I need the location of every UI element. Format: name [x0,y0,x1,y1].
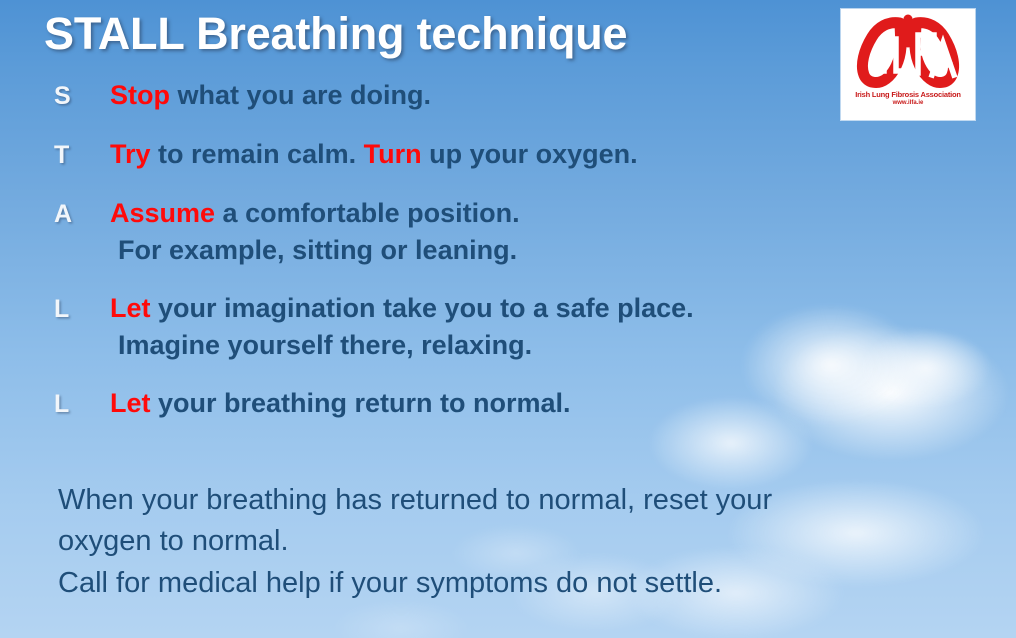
stall-text-t: Try to remain calm. Turn up your oxygen. [110,141,1016,168]
acronym-letter-l1: L [54,295,96,324]
keyword-try: Try [110,139,151,169]
stall-continuation-l1: Imagine yourself there, relaxing. [118,332,1016,359]
stall-row-s: S Stop what you are doing. [0,82,1016,112]
slide-canvas: STALL Breathing technique Irish Lung Fib [0,0,1016,638]
stall-continuation-a: For example, sitting or leaning. [118,237,1016,264]
stall-row-a: A Assume a comfortable position. For exa… [0,200,1016,264]
stall-rest-t: to remain calm. [151,139,364,169]
acronym-letter-t: T [54,141,96,170]
acronym-letter-s: S [54,82,96,111]
footer-line-2: oxygen to normal. [58,521,988,562]
stall-row-l1: L Let your imagination take you to a saf… [0,295,1016,359]
keyword-let-1: Let [110,293,151,323]
page-title: STALL Breathing technique [44,8,627,60]
footer-note: When your breathing has returned to norm… [58,480,988,604]
acronym-letter-l2: L [54,390,96,419]
footer-line-3: Call for medical help if your symptoms d… [58,563,988,604]
stall-text-l2: Let your breathing return to normal. [110,390,1016,417]
stall-row-l2: L Let your breathing return to normal. [0,390,1016,420]
footer-line-1: When your breathing has returned to norm… [58,480,988,521]
acronym-letter-a: A [54,200,96,229]
stall-rest-s: what you are doing. [170,80,431,110]
keyword-assume: Assume [110,198,215,228]
stall-list: S Stop what you are doing. T Try to rema… [0,82,1016,420]
stall-rest2-t: up your oxygen. [422,139,638,169]
stall-row-t: T Try to remain calm. Turn up your oxyge… [0,141,1016,171]
stall-rest-l2: your breathing return to normal. [151,388,571,418]
stall-rest-l1: your imagination take you to a safe plac… [151,293,694,323]
stall-text-s: Stop what you are doing. [110,82,1016,109]
stall-text-a: Assume a comfortable position. [110,200,1016,227]
keyword-turn: Turn [364,139,422,169]
lungs-icon [848,13,968,91]
keyword-let-2: Let [110,388,151,418]
keyword-stop: Stop [110,80,170,110]
stall-text-l1: Let your imagination take you to a safe … [110,295,1016,322]
stall-rest-a: a comfortable position. [215,198,520,228]
